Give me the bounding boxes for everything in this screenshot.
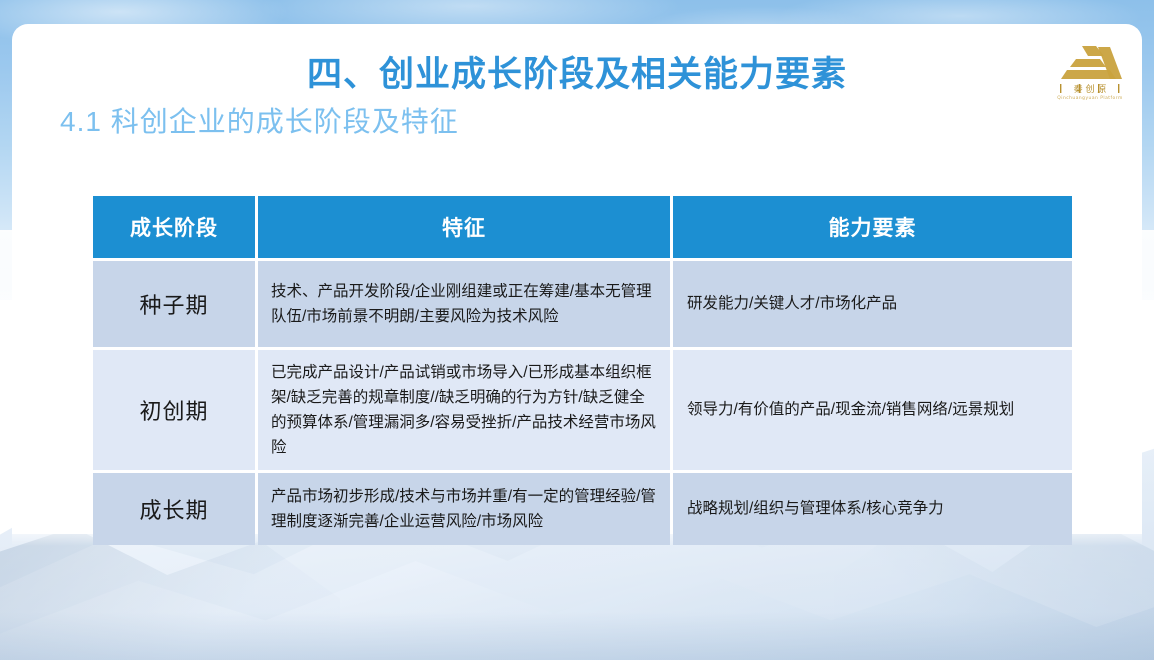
growth-stage-table: 成长阶段 特征 能力要素 种子期 技术、产品开发阶段/企业刚组建或正在筹建/基本… (90, 193, 1075, 548)
table-header: 成长阶段 特征 能力要素 (93, 196, 1072, 258)
logo-mark-icon: 秦 创 原 Qinchuangyuan Platform (1052, 42, 1138, 100)
column-header-stage: 成长阶段 (93, 196, 255, 258)
page-subtitle: 4.1 科创企业的成长阶段及特征 (60, 100, 459, 140)
cell-capabilities: 战略规划/组织与管理体系/核心竞争力 (673, 473, 1072, 545)
cell-capabilities: 领导力/有价值的产品/现金流/销售网络/远景规划 (673, 350, 1072, 470)
logo-subtext: Qinchuangyuan Platform (1057, 95, 1122, 100)
cell-stage: 种子期 (93, 261, 255, 347)
table-row: 种子期 技术、产品开发阶段/企业刚组建或正在筹建/基本无管理队伍/市场前景不明朗… (93, 261, 1072, 347)
valley-shadow-band (0, 612, 1154, 660)
slide: 四、创业成长阶段及相关能力要素 4.1 科创企业的成长阶段及特征 秦 创 原 Q… (0, 0, 1154, 660)
qinchuangyuan-logo: 秦 创 原 Qinchuangyuan Platform (1052, 42, 1138, 100)
table-row: 初创期 已完成产品设计/产品试销或市场导入/已形成基本组织框架/缺乏完善的规章制… (93, 350, 1072, 470)
logo-wordmark: 秦 创 原 (1074, 83, 1107, 95)
column-header-features: 特征 (258, 196, 670, 258)
cell-features: 已完成产品设计/产品试销或市场导入/已形成基本组织框架/缺乏完善的规章制度//缺… (258, 350, 670, 470)
table-body: 种子期 技术、产品开发阶段/企业刚组建或正在筹建/基本无管理队伍/市场前景不明朗… (93, 261, 1072, 545)
column-header-capabilities: 能力要素 (673, 196, 1072, 258)
cell-features: 技术、产品开发阶段/企业刚组建或正在筹建/基本无管理队伍/市场前景不明朗/主要风… (258, 261, 670, 347)
page-title: 四、创业成长阶段及相关能力要素 (0, 46, 1154, 97)
cell-stage: 初创期 (93, 350, 255, 470)
cell-capabilities: 研发能力/关键人才/市场化产品 (673, 261, 1072, 347)
table-row: 成长期 产品市场初步形成/技术与市场并重/有一定的管理经验/管理制度逐渐完善/企… (93, 473, 1072, 545)
cell-stage: 成长期 (93, 473, 255, 545)
cell-features: 产品市场初步形成/技术与市场并重/有一定的管理经验/管理制度逐渐完善/企业运营风… (258, 473, 670, 545)
table-header-row: 成长阶段 特征 能力要素 (93, 196, 1072, 258)
